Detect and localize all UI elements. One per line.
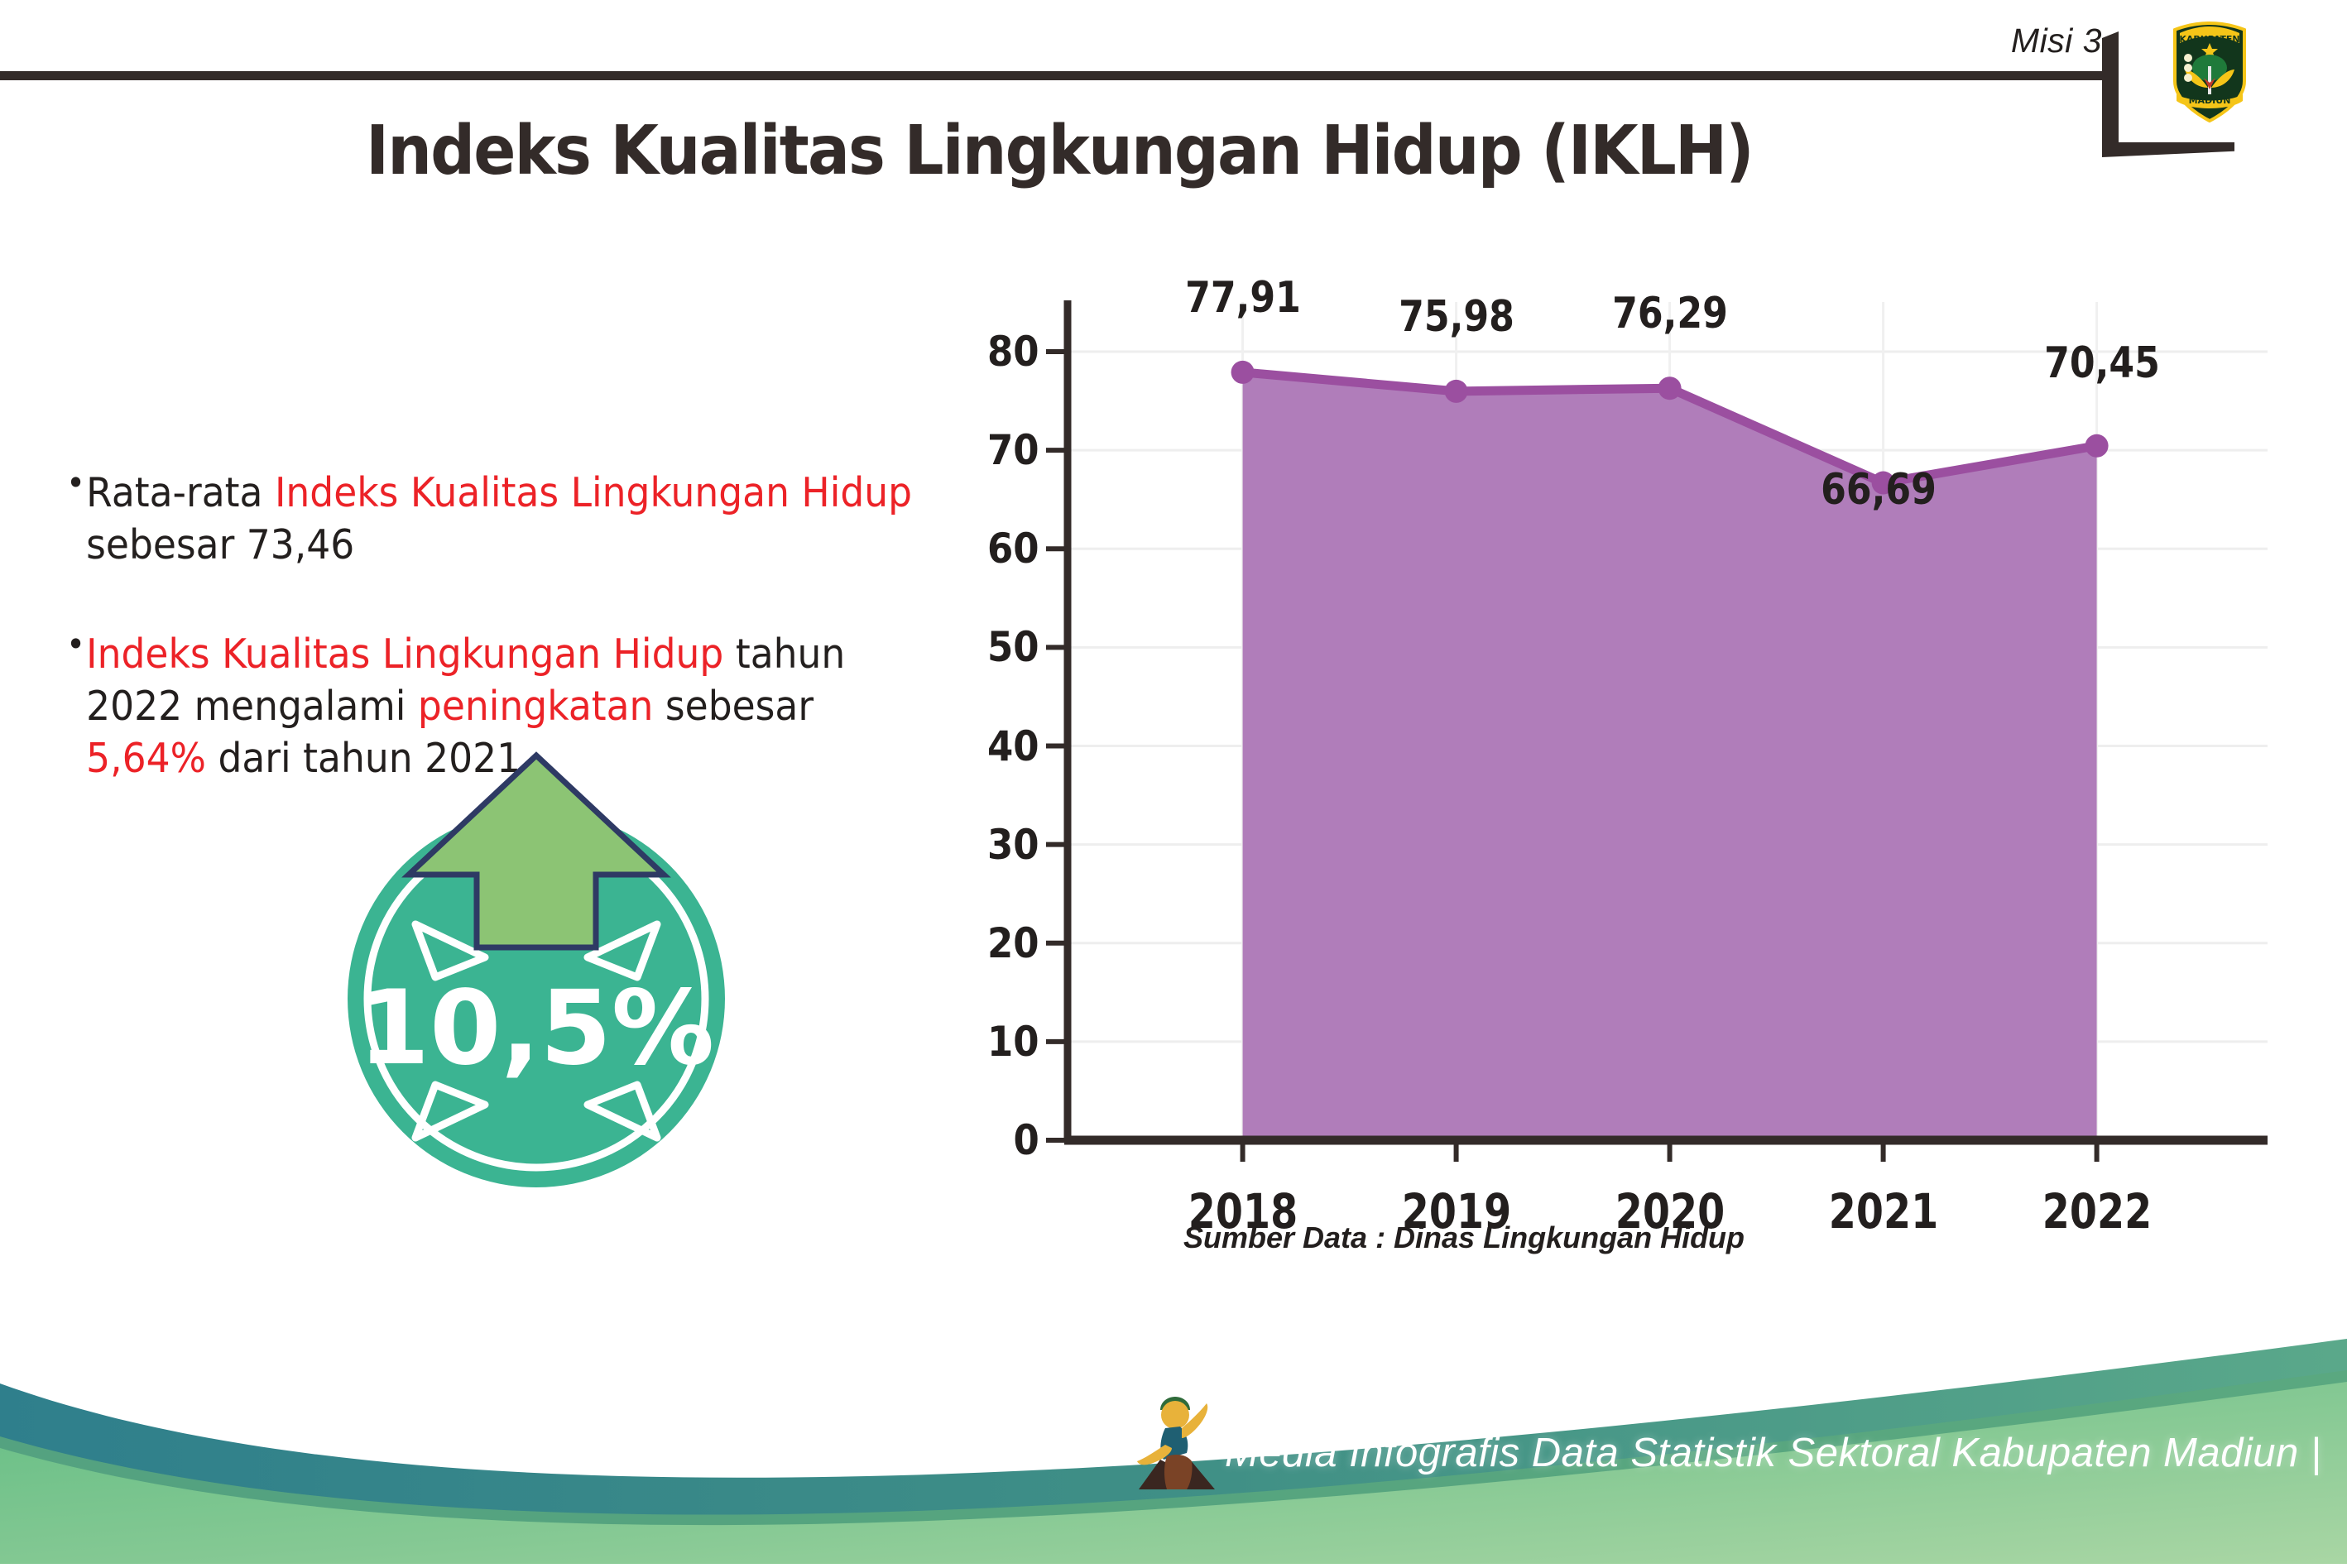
bracket-horizontal-bar <box>2102 142 2234 157</box>
bullet-item: • Rata-rata Indeks Kualitas Lingkungan H… <box>66 468 929 571</box>
y-axis-label: 80 <box>987 328 1039 376</box>
bracket-vertical-bar <box>2102 31 2119 156</box>
y-axis-label: 70 <box>987 426 1039 474</box>
bullet-segment: Indeks Kualitas Lingkungan Hidup <box>275 469 912 516</box>
x-axis-label: 2022 <box>2042 1183 2151 1240</box>
data-value-label: 77,91 <box>1185 273 1301 323</box>
increase-badge: 10,5% <box>323 749 753 1204</box>
y-axis-label: 60 <box>987 525 1039 573</box>
chart-canvas <box>977 294 2301 1204</box>
badge-graphic: 10,5% <box>323 749 753 1204</box>
footer-banner: Media Infografis Data Statistik Sektoral… <box>0 1291 2347 1564</box>
x-axis-label: 2021 <box>1828 1183 1937 1240</box>
bullet-marker: • <box>66 627 85 662</box>
data-point-marker <box>1445 380 1468 403</box>
y-axis-label: 50 <box>987 623 1039 671</box>
data-value-label: 75,98 <box>1399 292 1514 342</box>
infographic-slide: Misi 3 KABUPATEN MADIUN Indeks Kualitas … <box>0 0 2347 1564</box>
data-point-marker <box>2085 434 2109 458</box>
iklh-area-chart: 010203040506070802018201920202021202277,… <box>977 294 2301 1204</box>
statistics-figure-logo-icon <box>1132 1380 1223 1496</box>
data-value-label: 70,45 <box>2044 338 2160 388</box>
y-axis-label: 10 <box>987 1018 1039 1066</box>
data-value-label: 66,69 <box>1821 465 1937 515</box>
y-axis-label: 40 <box>987 722 1039 770</box>
bullet-segment: 5,64% <box>86 735 206 782</box>
bullet-segment: Indeks Kualitas Lingkungan Hidup <box>86 631 723 678</box>
footer-caption: Media Infografis Data Statistik Sektoral… <box>1225 1430 2321 1476</box>
data-point-marker <box>1658 376 1682 400</box>
header-rule <box>0 71 2106 80</box>
area-fill <box>1243 372 2097 1140</box>
badge-value: 10,5% <box>358 969 714 1088</box>
bullet-segment: sebesar 73,46 <box>86 521 354 568</box>
mission-label: Misi 3 <box>2011 22 2102 60</box>
page-title: Indeks Kualitas Lingkungan Hidup (IKLH) <box>84 112 2033 190</box>
y-axis-label: 30 <box>987 821 1039 869</box>
svg-text:MADIUN: MADIUN <box>2189 95 2231 106</box>
bullet-segment: peningkatan <box>418 683 654 730</box>
source-note: Sumber Data : Dinas Lingkungan Hidup <box>1183 1220 1745 1255</box>
bullet-segment: Rata-rata <box>86 469 275 516</box>
y-axis-label: 20 <box>987 919 1039 967</box>
data-point-marker <box>1231 361 1255 384</box>
kabupaten-madiun-crest-icon: KABUPATEN MADIUN <box>2165 18 2254 124</box>
bullet-marker: • <box>66 466 85 501</box>
bullet-segment: sebesar <box>653 683 814 730</box>
data-value-label: 76,29 <box>1612 289 1728 338</box>
bullet-text: Rata-rata Indeks Kualitas Lingkungan Hid… <box>66 468 929 571</box>
y-axis-label: 0 <box>1014 1116 1039 1164</box>
